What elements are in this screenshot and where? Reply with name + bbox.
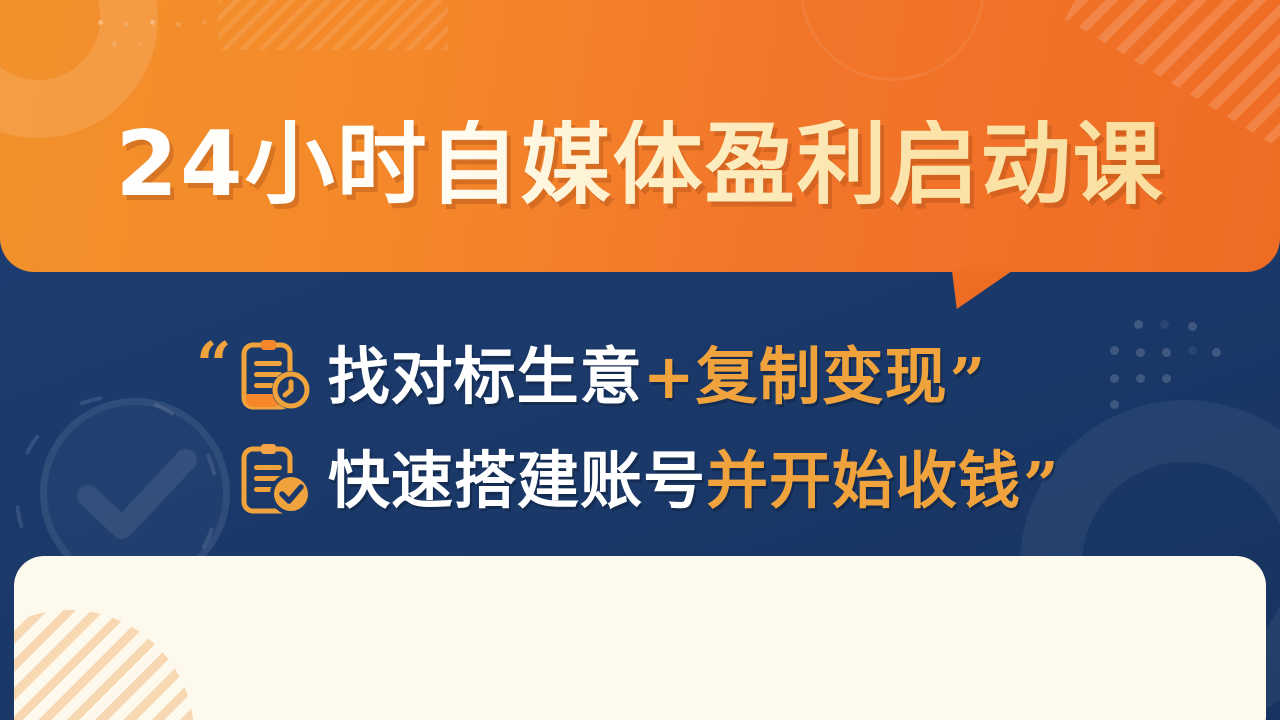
promo-poster: 24小时自媒体盈利启动课 “ 找对标生意+复制变现” (0, 0, 1280, 720)
orange-faint-circle-decoration (800, 0, 985, 81)
page-title: 24小时自媒体盈利启动课 (0, 120, 1280, 210)
bullet-text-2: 快速搭建账号并开始收钱” (328, 450, 1060, 512)
bullet-row-1: “ 找对标生意+复制变现” (0, 325, 1280, 429)
bullet-row-2: 快速搭建账号并开始收钱” (0, 429, 1280, 533)
closing-quote-mark-2: ” (1023, 448, 1060, 521)
bullet-2-white-text: 快速搭建账号 (328, 444, 706, 517)
bullet-list: “ 找对标生意+复制变现” (0, 325, 1280, 533)
clipboard-check-icon (236, 442, 314, 520)
closing-quote-mark-1: ” (950, 344, 987, 417)
bullet-1-plus: + (643, 340, 696, 413)
bullet-text-1: 找对标生意+复制变现” (328, 346, 987, 408)
striped-circle-decoration (14, 610, 194, 720)
bullet-2-gold-text: 并开始收钱 (706, 444, 1021, 517)
bullet-1-gold-text: 复制变现 (696, 340, 948, 413)
orange-stripes-left-decoration (218, 0, 448, 50)
bullet-1-white-text: 找对标生意 (328, 340, 643, 413)
clipboard-search-icon (236, 338, 314, 416)
orange-dot-decoration (98, 20, 228, 60)
bottom-cream-card (14, 556, 1266, 720)
